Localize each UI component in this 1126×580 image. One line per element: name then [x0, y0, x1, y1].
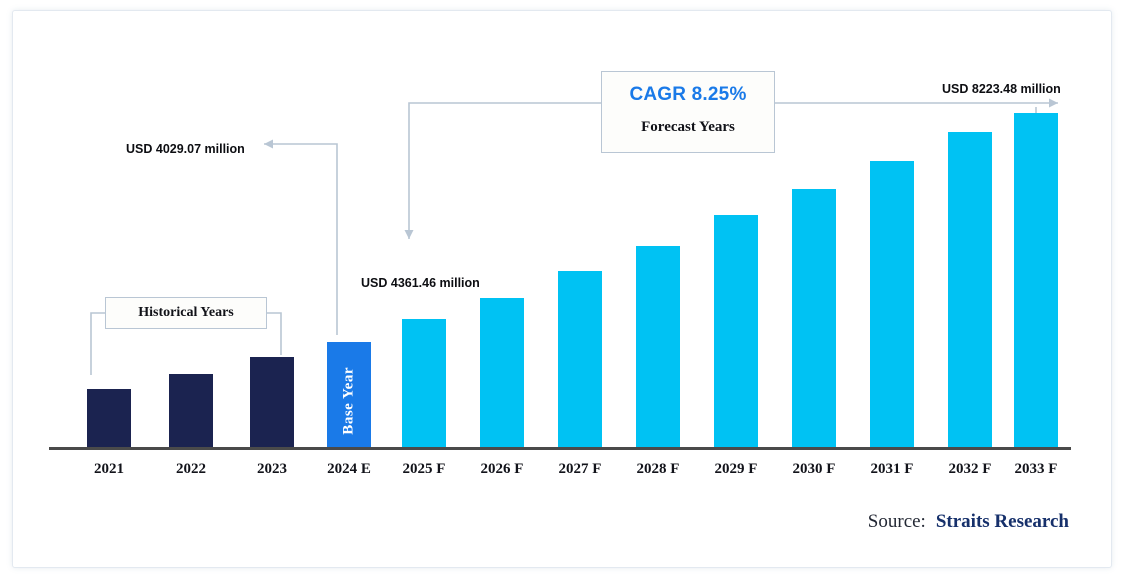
historical-years-callout: Historical Years	[105, 297, 267, 329]
x-tick-2030-f: 2030 F	[769, 461, 859, 478]
bar-2031-f[interactable]	[870, 161, 914, 447]
bar-chart-plot: Base Year 2021 2022 2023 2024 E 2025 F 2…	[13, 11, 1113, 569]
bar-2028-f[interactable]	[636, 246, 680, 447]
source-name[interactable]: Straits Research	[936, 511, 1069, 532]
x-tick-2027-f: 2027 F	[535, 461, 625, 478]
bar-2027-f[interactable]	[558, 271, 602, 447]
bar-2029-f[interactable]	[714, 215, 758, 447]
x-axis-line	[49, 447, 1071, 450]
bar-2024-e[interactable]: Base Year	[327, 342, 371, 447]
cagr-callout: CAGR 8.25% Forecast Years	[601, 71, 775, 153]
x-tick-2022: 2022	[146, 461, 236, 478]
forecast-years-label: Forecast Years	[602, 119, 774, 136]
source-row: Source:Straits Research	[868, 511, 1069, 533]
bar-2030-f[interactable]	[792, 189, 836, 447]
bar-2033-f[interactable]	[1014, 113, 1058, 447]
value-label-forecast-start: USD 4361.46 million	[361, 276, 480, 290]
bar-2025-f[interactable]	[402, 319, 446, 447]
x-tick-2031-f: 2031 F	[847, 461, 937, 478]
chart-card: Base Year 2021 2022 2023 2024 E 2025 F 2…	[12, 10, 1112, 568]
bar-2022[interactable]	[169, 374, 213, 447]
bar-2023[interactable]	[250, 357, 294, 447]
bar-2026-f[interactable]	[480, 298, 524, 447]
x-tick-2021: 2021	[64, 461, 154, 478]
x-tick-2028-f: 2028 F	[613, 461, 703, 478]
bar-2032-f[interactable]	[948, 132, 992, 447]
bar-2021[interactable]	[87, 389, 131, 447]
x-tick-2025-f: 2025 F	[379, 461, 469, 478]
value-label-forecast-end: USD 8223.48 million	[942, 82, 1061, 96]
base-year-label: Base Year	[341, 367, 358, 435]
cagr-value: CAGR 8.25%	[602, 84, 774, 106]
x-tick-2026-f: 2026 F	[457, 461, 547, 478]
x-tick-2029-f: 2029 F	[691, 461, 781, 478]
value-label-base-year: USD 4029.07 million	[126, 142, 245, 156]
source-label: Source:	[868, 511, 926, 532]
x-tick-2033-f: 2033 F	[991, 461, 1081, 478]
